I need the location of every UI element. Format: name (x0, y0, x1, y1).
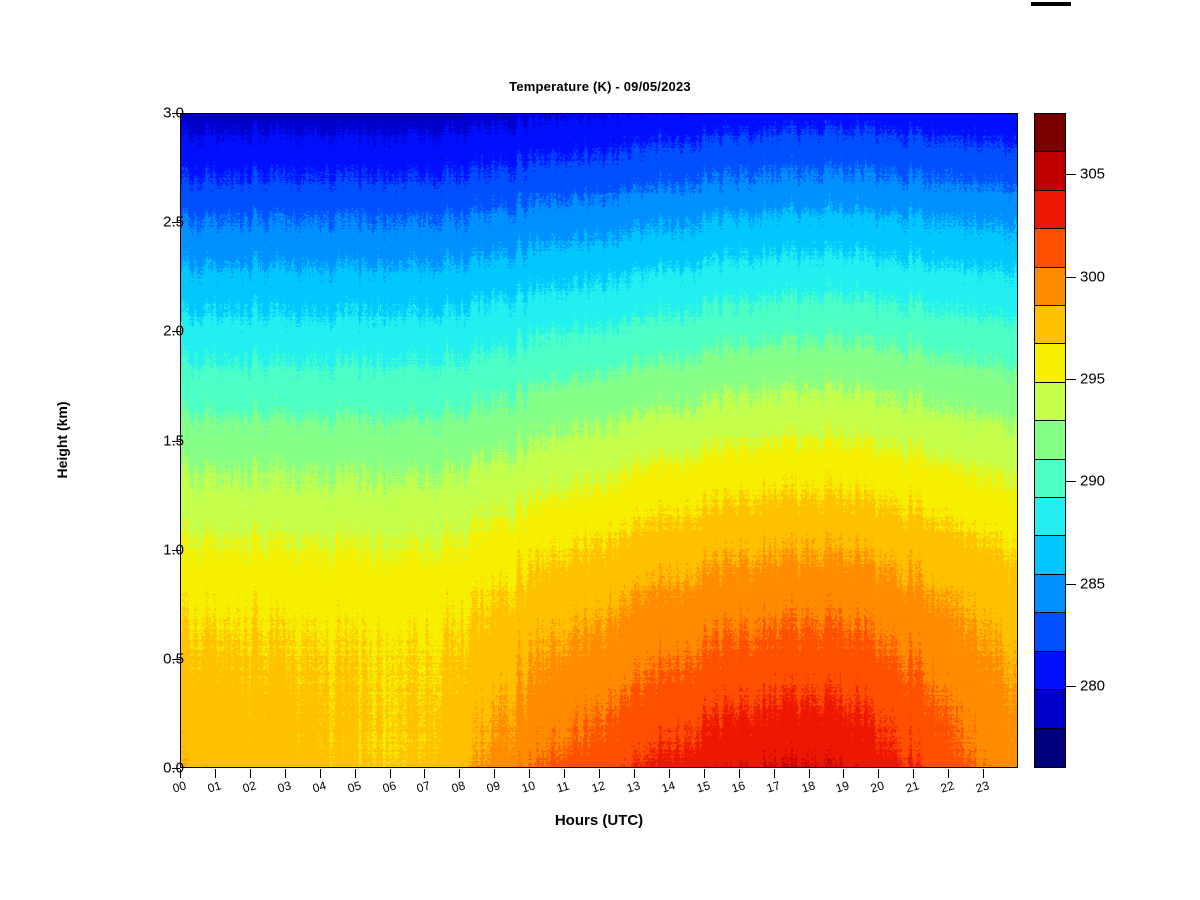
y-axis-tick-label: 2.0 (163, 323, 184, 340)
colorbar-band (1035, 344, 1065, 382)
y-axis: 0.00.51.01.52.02.53.0 (0, 0, 1200, 900)
x-axis-tick (424, 769, 425, 778)
x-axis-tick (739, 769, 740, 778)
x-axis-tick (983, 769, 984, 778)
colorbar-band (1035, 191, 1065, 229)
x-axis-tick (913, 769, 914, 778)
x-axis-tick (599, 769, 600, 778)
x-axis-tick (669, 769, 670, 778)
x-axis-tick (529, 769, 530, 778)
colorbar-tick (1066, 379, 1076, 380)
x-axis-tick (180, 769, 181, 778)
colorbar (1034, 113, 1066, 768)
x-axis-tick (843, 769, 844, 778)
colorbar-band (1035, 421, 1065, 459)
x-axis-tick (320, 769, 321, 778)
x-axis-tick (774, 769, 775, 778)
colorbar-tick (1066, 174, 1076, 175)
colorbar-band (1035, 613, 1065, 651)
x-axis-tick (494, 769, 495, 778)
colorbar-band (1035, 575, 1065, 613)
y-axis-tick-label: 0.5 (163, 650, 184, 667)
colorbar-band (1035, 690, 1065, 728)
x-axis-tick (215, 769, 216, 778)
colorbar-tick (1066, 686, 1076, 687)
colorbar-band (1035, 460, 1065, 498)
colorbar-band (1035, 152, 1065, 190)
colorbar-tick-label: 295 (1080, 371, 1105, 388)
colorbar-tick-label: 290 (1080, 473, 1105, 490)
colorbar-band (1035, 268, 1065, 306)
colorbar-band (1035, 383, 1065, 421)
x-axis-tick (878, 769, 879, 778)
colorbar-band (1035, 306, 1065, 344)
x-axis-tick (390, 769, 391, 778)
x-axis-tick (948, 769, 949, 778)
y-axis-tick-label: 1.5 (163, 432, 184, 449)
x-axis-tick (250, 769, 251, 778)
x-axis-tick (704, 769, 705, 778)
colorbar-band (1035, 652, 1065, 690)
colorbar-band (1035, 114, 1065, 152)
x-axis-title: Hours (UTC) (180, 812, 1018, 829)
x-axis-tick (459, 769, 460, 778)
x-axis-tick (285, 769, 286, 778)
colorbar-tick-label: 280 (1080, 678, 1105, 695)
colorbar-tick (1066, 584, 1076, 585)
y-axis-tick-label: 1.0 (163, 541, 184, 558)
colorbar-tick-label: 285 (1080, 575, 1105, 592)
colorbar-tick-label: 300 (1080, 268, 1105, 285)
colorbar-band (1035, 536, 1065, 574)
colorbar-band (1035, 229, 1065, 267)
x-axis-tick (355, 769, 356, 778)
colorbar-tick-label: 305 (1080, 166, 1105, 183)
y-axis-title: Height (km) (54, 402, 70, 479)
figure-canvas: Temperature (K) - 09/05/2023 0.00.51.01.… (0, 0, 1200, 900)
colorbar-band (1035, 729, 1065, 767)
colorbar-tick (1066, 481, 1076, 482)
y-axis-tick-label: 3.0 (163, 105, 184, 122)
y-axis-tick-label: 2.5 (163, 214, 184, 231)
colorbar-band (1035, 498, 1065, 536)
x-axis-tick (564, 769, 565, 778)
x-axis-tick (634, 769, 635, 778)
x-axis-tick (809, 769, 810, 778)
colorbar-tick (1066, 277, 1076, 278)
